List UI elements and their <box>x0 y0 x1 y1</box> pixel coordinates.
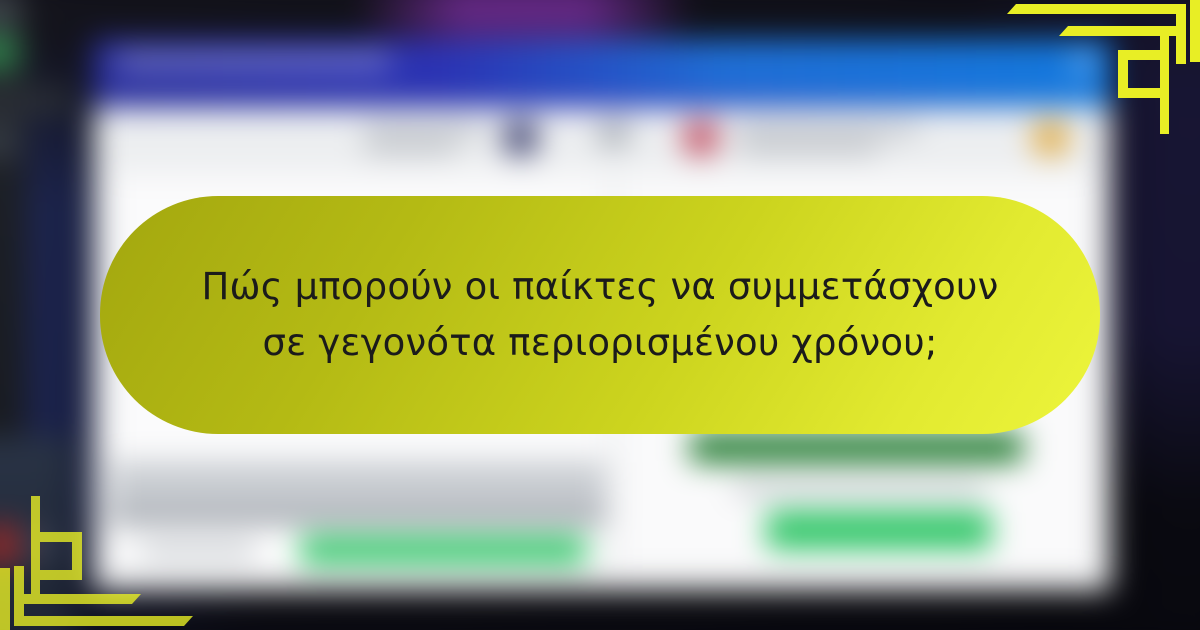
left-panel-band <box>111 462 605 504</box>
avatar[interactable] <box>502 120 538 156</box>
header-text-4 <box>738 141 878 153</box>
content-header <box>102 107 1103 166</box>
taskbar-strip <box>0 87 74 115</box>
dock-app-icon-small[interactable] <box>28 528 58 560</box>
dock-tile-2[interactable] <box>0 34 19 70</box>
header-icon-red[interactable] <box>683 120 719 156</box>
screenshot-stage: Πώς μπορούν οι παίκτες να συμμετάσχουν σ… <box>0 0 1200 630</box>
headline-text: Πώς μπορούν οι παίκτες να συμμετάσχουν σ… <box>180 259 1020 371</box>
header-icon-grey[interactable] <box>600 122 628 145</box>
header-text-3 <box>738 124 918 136</box>
window-title-text <box>117 51 390 71</box>
window-title-accent <box>93 95 1111 108</box>
close-icon[interactable] <box>1075 54 1092 71</box>
right-panel-text <box>735 484 985 494</box>
dock-tile-1[interactable] <box>0 0 19 28</box>
primary-action-button[interactable] <box>300 537 586 565</box>
dark-banner <box>690 433 1023 463</box>
secondary-action-button[interactable] <box>766 511 991 549</box>
header-text-2 <box>365 141 456 153</box>
left-panel-divider <box>111 509 605 522</box>
window-title-bar <box>93 39 1111 94</box>
dock-app-icon-red[interactable] <box>0 524 19 566</box>
headline-card: Πώς μπορούν οι παίκτες να συμμετάσχουν σ… <box>100 196 1100 434</box>
header-text-1 <box>365 124 482 136</box>
dock-tile-3[interactable] <box>0 123 19 159</box>
left-panel-input-label <box>141 545 255 556</box>
header-icon-orange[interactable] <box>1032 120 1068 156</box>
